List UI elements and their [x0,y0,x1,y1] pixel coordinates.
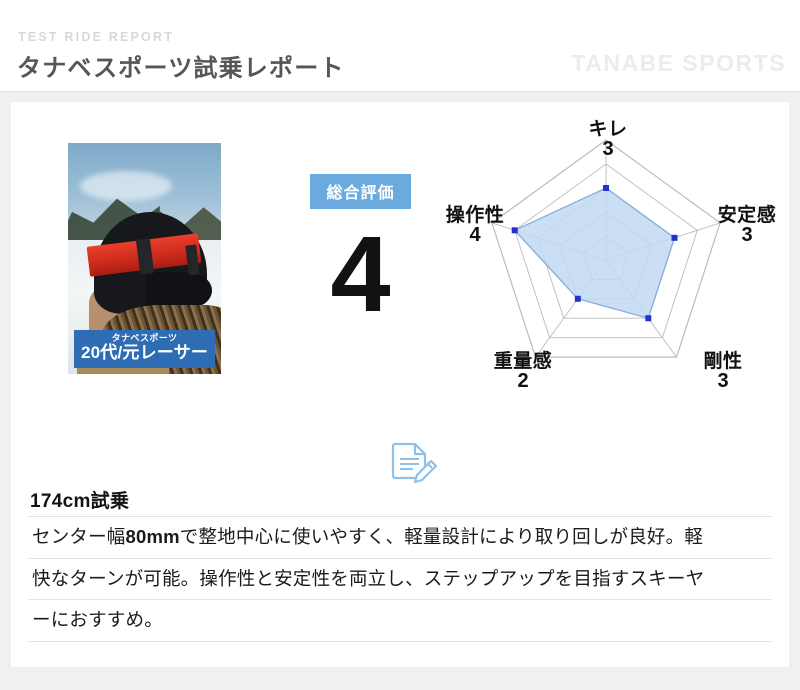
photo-cloud [80,171,172,201]
review-text: センター幅 [32,526,126,547]
radar-axis-value: 3 [687,371,759,391]
radar-axis-name: 剛性 [687,352,759,371]
header-eyebrow: TEST RIDE REPORT [18,30,174,44]
radar-point [672,235,678,241]
photo-caption-profile: 20代/元レーサー [74,343,215,363]
photo-cap-brim [145,272,212,309]
radar-axis-value: 2 [477,371,569,391]
photo-caption: タナベスポーツ 20代/元レーサー [74,330,215,368]
overall-score-value: 4 [273,223,448,326]
document-pencil-icon [385,438,437,490]
photo-caption-shop: タナベスポーツ [74,333,215,344]
radar-axis-value: 4 [429,225,521,245]
radar-label-juryoukan: 重量感 2 [477,352,569,392]
review-text: 快なターンが可能。操作性と安定性を両立し、ステップアップを目指すスキーヤ [32,568,704,589]
radar-axis-value: 3 [701,225,793,245]
overall-score-badge: 総合評価 [310,174,410,209]
page-title: タナベスポーツ試乗レポート [17,48,345,83]
radar-label-anteikan: 安定感 3 [701,206,793,246]
review-title: 174cm試乗 [30,486,129,513]
brand-watermark: TANABE SPORTS [571,50,786,77]
radar-axis-name: 安定感 [701,206,793,225]
review-text: で整地中心に使いやすく、軽量設計により取り回しが良好。軽 [180,526,703,547]
radar-axis-name: 重量感 [477,352,569,371]
review-line: ーにおすすめ。 [28,599,772,642]
review-text: ーにおすすめ。 [32,609,163,630]
radar-point [575,296,581,302]
review-line: センター幅80mmで整地中心に使いやすく、軽量設計により取り回しが良好。軽 [28,516,772,558]
review-text-bold: 80mm [126,526,180,547]
overall-score-block: 総合評価 4 [273,174,448,326]
review-body: センター幅80mmで整地中心に使いやすく、軽量設計により取り回しが良好。軽 快な… [28,516,772,642]
radar-label-gousei: 剛性 3 [687,352,759,392]
radar-axis-name: 操作性 [429,206,521,225]
radar-label-sousasei: 操作性 4 [429,206,521,246]
radar-label-kire: キレ 3 [573,120,643,160]
radar-point [603,185,609,191]
page-header: TEST RIDE REPORT タナベスポーツ試乗レポート TANABE SP… [0,0,800,92]
radar-axis-name: キレ [573,120,643,139]
report-card: タナベスポーツ 20代/元レーサー 総合評価 4 キレ 3 安定感 3 剛性 3… [11,102,789,667]
radar-axis-value: 3 [573,139,643,159]
radar-chart: キレ 3 安定感 3 剛性 3 重量感 2 操作性 4 [423,110,789,420]
rider-photo: タナベスポーツ 20代/元レーサー [68,143,221,374]
radar-data-area [515,188,675,318]
radar-point [645,315,651,321]
review-line: 快なターンが可能。操作性と安定性を両立し、ステップアップを目指すスキーヤ [28,558,772,600]
